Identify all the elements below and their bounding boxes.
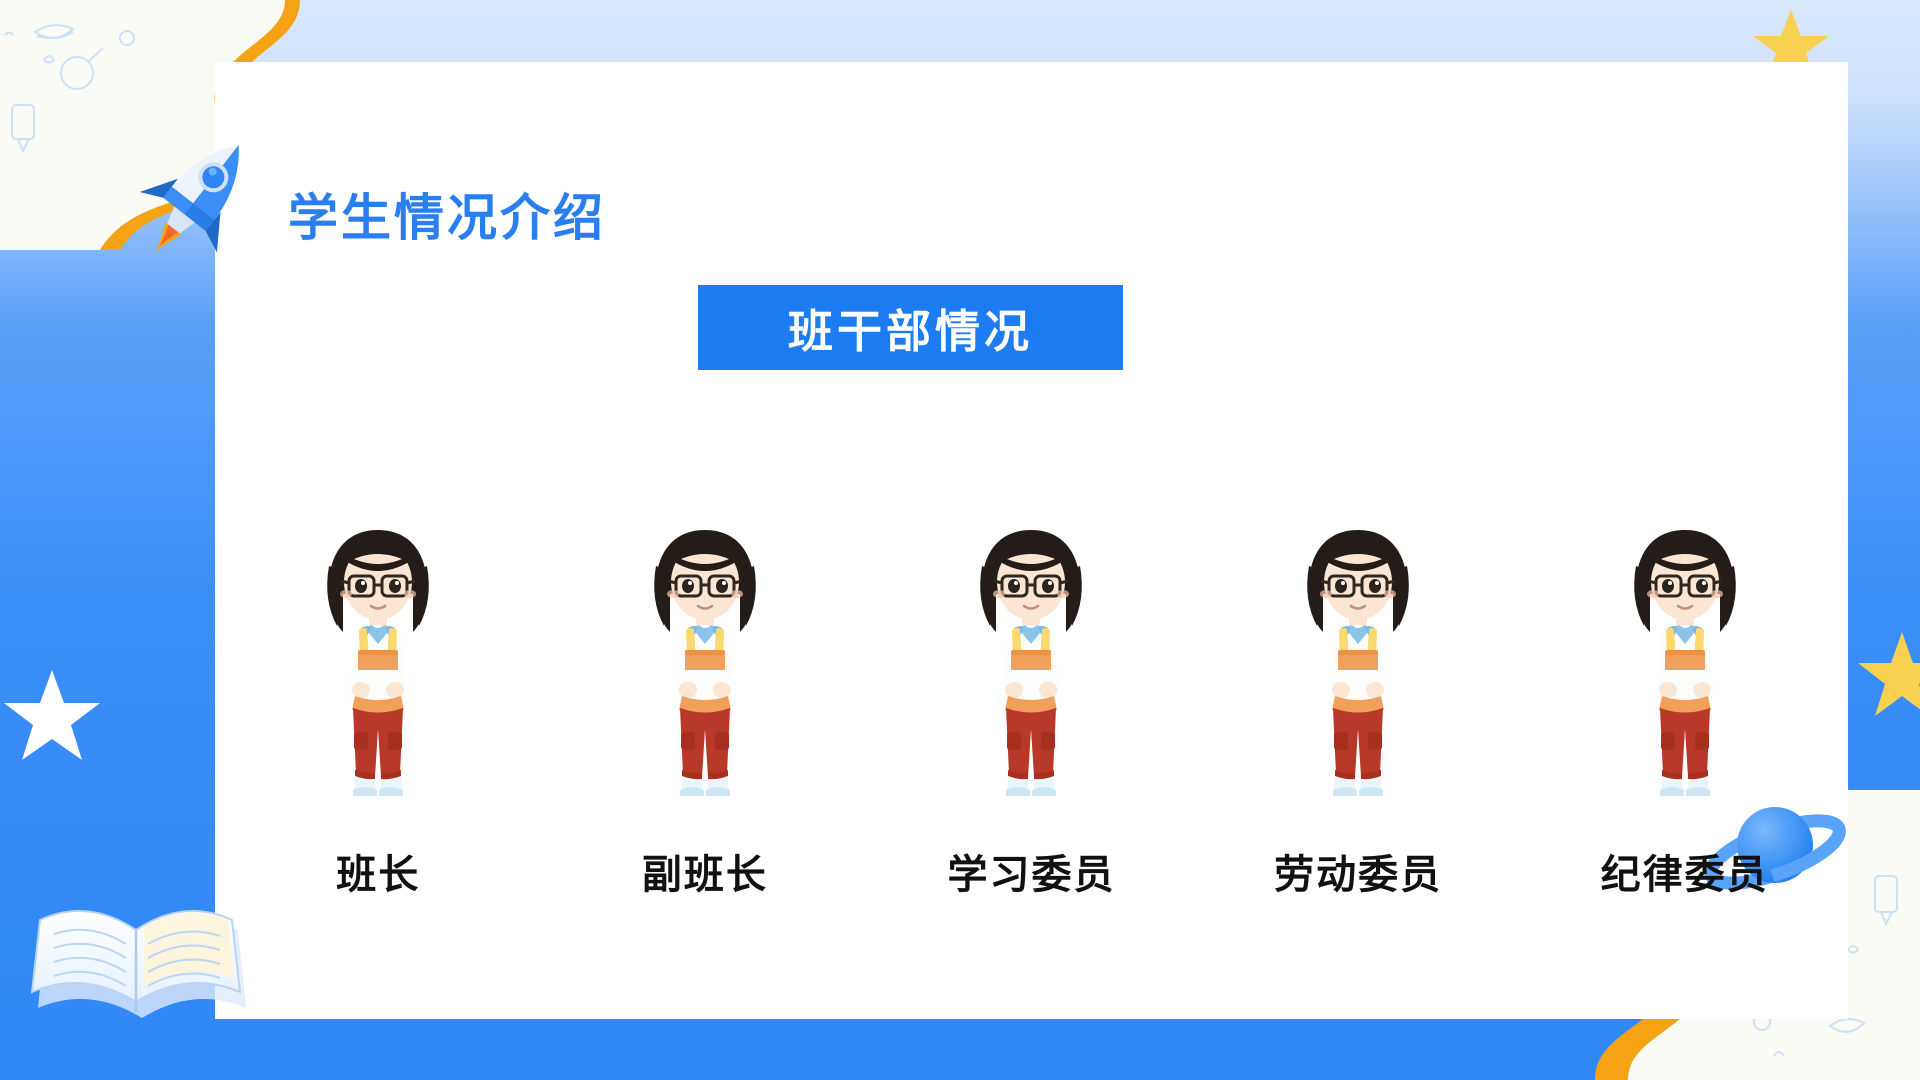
page-title: 学生情况介绍 [288,178,606,250]
class-officers-row: 班长 [215,480,1848,900]
section-banner-label: 班干部情况 [788,295,1033,360]
student-avatar-icon [630,520,780,810]
star-icon-left [2,668,102,764]
officer-item[interactable]: 学习委员 [911,520,1151,900]
officer-label: 劳动委员 [1274,842,1442,900]
officer-item[interactable]: 纪律委员 [1565,520,1805,900]
slide-canvas: 学生情况介绍 班干部情况 [0,0,1920,1080]
officer-label: 纪律委员 [1601,842,1769,900]
section-banner: 班干部情况 [698,285,1123,370]
officer-item[interactable]: 班长 [258,520,498,900]
rocket-icon [133,125,263,270]
student-avatar-icon [1610,520,1760,810]
officer-label: 学习委员 [947,842,1115,900]
star-icon-right [1856,630,1920,720]
officer-item[interactable]: 副班长 [585,520,825,900]
student-avatar-icon [303,520,453,810]
officer-label: 班长 [336,842,420,900]
student-avatar-icon [1283,520,1433,810]
student-avatar-icon [956,520,1106,810]
officer-item[interactable]: 劳动委员 [1238,520,1478,900]
officer-label: 副班长 [642,842,768,900]
